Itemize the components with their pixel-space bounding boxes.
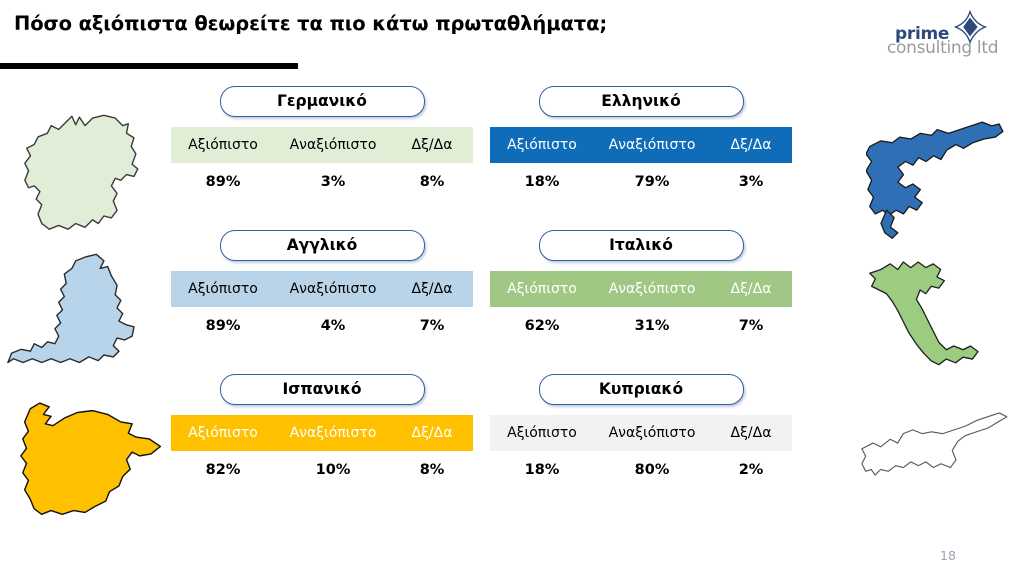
title-underline-rule [0, 63, 298, 69]
column-header-dontknow: Δξ/Δα [391, 425, 473, 441]
column-header-dontknow: Δξ/Δα [391, 137, 473, 153]
column-header-reliable: Αξιόπιστο [171, 425, 275, 441]
column-header-band-england: Αξιόπιστο Αναξιόπιστο Δξ/Δα [171, 271, 473, 307]
values-row-cyprus: 18% 80% 2% [490, 451, 792, 489]
value-unreliable: 4% [275, 318, 391, 334]
column-header-band-greece: Αξιόπιστο Αναξιόπιστο Δξ/Δα [490, 127, 792, 163]
england-map-icon [6, 250, 166, 380]
value-dontknow: 2% [710, 462, 792, 478]
column-header-unreliable: Αναξιόπιστο [275, 137, 391, 153]
value-unreliable: 80% [594, 462, 710, 478]
league-block-england: Αγγλικό Αξιόπιστο Αναξιόπιστο Δξ/Δα 89% … [171, 230, 473, 345]
value-reliable: 82% [171, 462, 275, 478]
league-label-england[interactable]: Αγγλικό [220, 230, 425, 261]
column-header-unreliable: Αναξιόπιστο [594, 281, 710, 297]
column-header-reliable: Αξιόπιστο [490, 425, 594, 441]
column-header-dontknow: Δξ/Δα [710, 281, 792, 297]
value-dontknow: 7% [391, 318, 473, 334]
league-block-greece: Ελληνικό Αξιόπιστο Αναξιόπιστο Δξ/Δα 18%… [490, 86, 792, 201]
value-dontknow: 3% [710, 174, 792, 190]
brand-logo: prime consulting ltd [887, 8, 1015, 60]
league-block-cyprus: Κυπριακό Αξιόπιστο Αναξιόπιστο Δξ/Δα 18%… [490, 374, 792, 489]
column-header-dontknow: Δξ/Δα [391, 281, 473, 297]
value-dontknow: 7% [710, 318, 792, 334]
column-header-unreliable: Αναξιόπιστο [594, 425, 710, 441]
league-label-greece[interactable]: Ελληνικό [539, 86, 744, 117]
league-block-spain: Ισπανικό Αξιόπιστο Αναξιόπιστο Δξ/Δα 82%… [171, 374, 473, 489]
column-header-dontknow: Δξ/Δα [710, 137, 792, 153]
value-dontknow: 8% [391, 174, 473, 190]
value-reliable: 89% [171, 174, 275, 190]
value-unreliable: 10% [275, 462, 391, 478]
column-header-reliable: Αξιόπιστο [171, 281, 275, 297]
column-header-unreliable: Αναξιόπιστο [275, 281, 391, 297]
value-unreliable: 79% [594, 174, 710, 190]
values-row-spain: 82% 10% 8% [171, 451, 473, 489]
page-title: Πόσο αξιόπιστα θεωρείτε τα πιο κάτω πρωτ… [14, 12, 607, 35]
column-header-dontknow: Δξ/Δα [710, 425, 792, 441]
value-reliable: 89% [171, 318, 275, 334]
league-label-cyprus[interactable]: Κυπριακό [539, 374, 744, 405]
column-header-unreliable: Αναξιόπιστο [275, 425, 391, 441]
league-block-germany: Γερμανικό Αξιόπιστο Αναξιόπιστο Δξ/Δα 89… [171, 86, 473, 201]
column-header-reliable: Αξιόπιστο [490, 281, 594, 297]
value-unreliable: 31% [594, 318, 710, 334]
league-label-germany[interactable]: Γερμανικό [220, 86, 425, 117]
column-header-band-cyprus: Αξιόπιστο Αναξιόπιστο Δξ/Δα [490, 415, 792, 451]
germany-map-icon [6, 112, 166, 240]
column-header-band-spain: Αξιόπιστο Αναξιόπιστο Δξ/Δα [171, 415, 473, 451]
spain-map-icon [2, 392, 167, 532]
values-row-greece: 18% 79% 3% [490, 163, 792, 201]
values-row-italy: 62% 31% 7% [490, 307, 792, 345]
league-label-italy[interactable]: Ιταλικό [539, 230, 744, 261]
league-label-spain[interactable]: Ισπανικό [220, 374, 425, 405]
value-reliable: 18% [490, 174, 594, 190]
column-header-reliable: Αξιόπιστο [490, 137, 594, 153]
value-reliable: 18% [490, 462, 594, 478]
column-header-band-italy: Αξιόπιστο Αναξιόπιστο Δξ/Δα [490, 271, 792, 307]
page-number: 18 [940, 548, 956, 563]
values-row-england: 89% 4% 7% [171, 307, 473, 345]
values-row-germany: 89% 3% 8% [171, 163, 473, 201]
value-dontknow: 8% [391, 462, 473, 478]
logo-wordmark-secondary: consulting ltd [887, 38, 998, 58]
column-header-reliable: Αξιόπιστο [171, 137, 275, 153]
greece-map-icon [866, 112, 1016, 240]
italy-map-icon [866, 252, 1006, 384]
cyprus-map-icon [860, 400, 1020, 520]
league-block-italy: Ιταλικό Αξιόπιστο Αναξιόπιστο Δξ/Δα 62% … [490, 230, 792, 345]
column-header-band-germany: Αξιόπιστο Αναξιόπιστο Δξ/Δα [171, 127, 473, 163]
value-reliable: 62% [490, 318, 594, 334]
value-unreliable: 3% [275, 174, 391, 190]
column-header-unreliable: Αναξιόπιστο [594, 137, 710, 153]
